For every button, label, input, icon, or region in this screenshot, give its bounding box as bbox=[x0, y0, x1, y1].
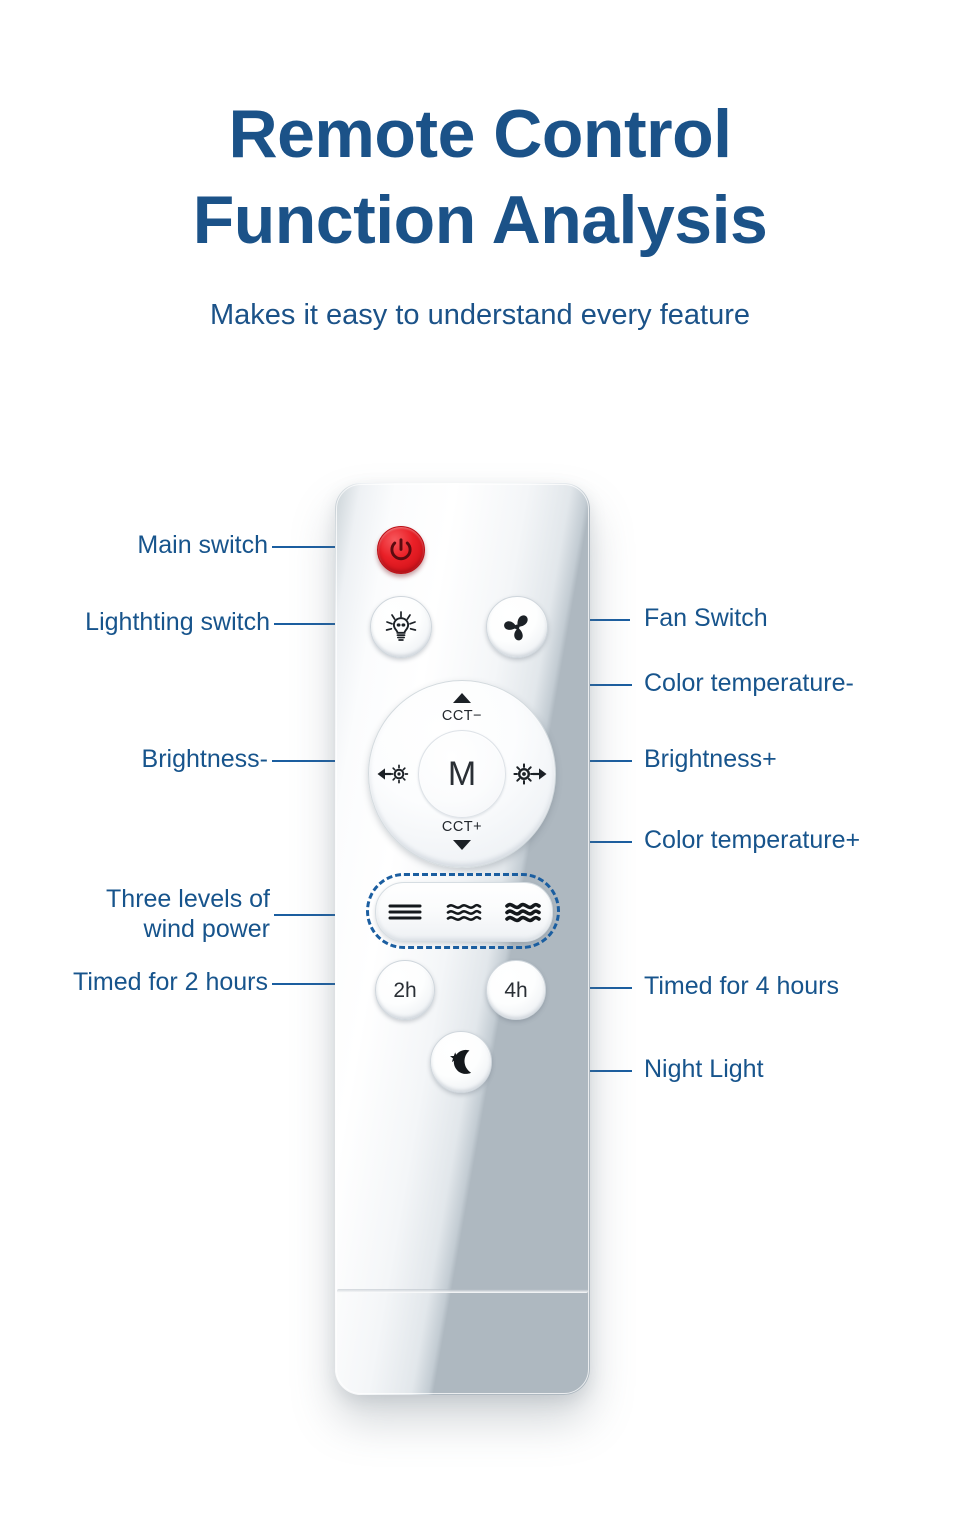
night-light-button[interactable] bbox=[430, 1031, 492, 1093]
callout-fan-switch: Fan Switch bbox=[644, 604, 944, 634]
timer-2h-button[interactable]: 2h bbox=[375, 960, 435, 1020]
fan-switch-button[interactable] bbox=[486, 596, 548, 658]
power-icon bbox=[388, 537, 414, 563]
cct-plus-label[interactable]: CCT+ bbox=[369, 819, 555, 835]
timer-4h-label: 4h bbox=[504, 980, 527, 1001]
lightbulb-icon bbox=[381, 607, 421, 647]
timer-2h-label: 2h bbox=[393, 980, 416, 1001]
timer-4h-button[interactable]: 4h bbox=[486, 960, 546, 1020]
callout-color-temp-minus: Color temperature- bbox=[644, 669, 954, 699]
callout-brightness-plus: Brightness+ bbox=[644, 745, 944, 775]
lighting-switch-button[interactable] bbox=[370, 596, 432, 658]
triangle-down-icon[interactable] bbox=[453, 840, 471, 850]
moon-star-icon bbox=[442, 1043, 480, 1081]
cct-minus-label[interactable]: CCT− bbox=[369, 708, 555, 724]
mode-button-label: M bbox=[448, 757, 476, 791]
dpad-control: CCT− bbox=[368, 680, 556, 868]
fan-blade-icon bbox=[497, 607, 537, 647]
callout-wind-power: Three levels of wind power bbox=[0, 885, 270, 944]
battery-cover-seam bbox=[337, 1289, 588, 1293]
callout-color-temp-plus: Color temperature+ bbox=[644, 826, 956, 856]
callout-main-switch: Main switch bbox=[0, 531, 268, 561]
callout-timed-4h: Timed for 4 hours bbox=[644, 972, 944, 1002]
power-button[interactable] bbox=[377, 526, 425, 574]
callout-timed-2h: Timed for 2 hours bbox=[0, 968, 268, 998]
callout-night-light: Night Light bbox=[644, 1055, 944, 1085]
triangle-up-icon[interactable] bbox=[453, 693, 471, 703]
brightness-down-button[interactable] bbox=[375, 760, 415, 788]
wind-power-highlight bbox=[366, 873, 560, 949]
callout-brightness-minus: Brightness- bbox=[0, 745, 268, 775]
mode-button[interactable]: M bbox=[418, 730, 506, 818]
brightness-up-button[interactable] bbox=[509, 760, 549, 788]
remote-diagram: CCT− bbox=[0, 0, 960, 1537]
remote-body: CCT− bbox=[335, 483, 590, 1395]
callout-lighting-switch: Lighthting switch bbox=[0, 608, 270, 638]
